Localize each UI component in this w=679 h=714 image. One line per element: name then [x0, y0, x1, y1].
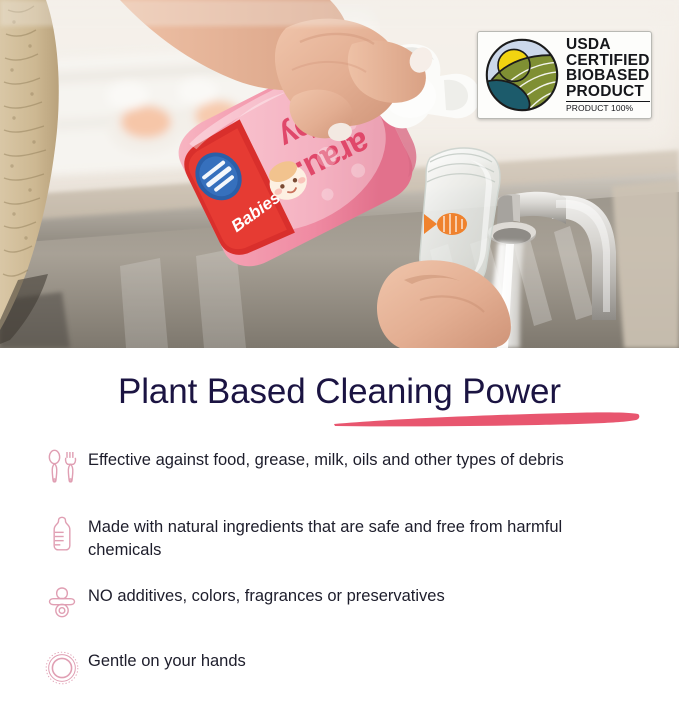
usda-line-3: BIOBASED: [566, 68, 650, 84]
page-title: Plant Based Cleaning Power: [0, 372, 679, 412]
heading-wrap: Plant Based Cleaning Power: [0, 372, 679, 412]
pacifier-icon: [36, 582, 88, 631]
feature-bullet-list: Effective against food, grease, milk, oi…: [36, 446, 646, 714]
lifestyle-photo: Babies arau. baby: [0, 0, 679, 348]
usda-badge-text: USDA CERTIFIED BIOBASED PRODUCT PRODUCT …: [566, 37, 650, 113]
list-item-label: Made with natural ingredients that are s…: [88, 513, 628, 562]
list-item: Gentle on your hands: [36, 647, 646, 696]
baby-bottle-icon: [36, 513, 88, 562]
usda-biobased-logo-icon: [482, 35, 562, 115]
list-item-label: Gentle on your hands: [88, 647, 246, 673]
product-feature-graphic: Babies arau. baby: [0, 0, 679, 679]
bubble-ring-icon: [36, 647, 88, 696]
list-item-label: Effective against food, grease, milk, oi…: [88, 446, 564, 472]
spoon-fork-icon: [36, 446, 88, 495]
list-item: Effective against food, grease, milk, oi…: [36, 446, 646, 495]
usda-line-1: USDA: [566, 37, 650, 53]
list-item: Made with natural ingredients that are s…: [36, 513, 646, 562]
list-item-label: NO additives, colors, fragrances or pres…: [88, 582, 445, 608]
features-panel: Plant Based Cleaning Power: [0, 348, 679, 679]
list-item: NO additives, colors, fragrances or pres…: [36, 582, 646, 631]
usda-line-4: PRODUCT: [566, 84, 650, 100]
usda-divider: [566, 101, 650, 102]
usda-product-percent: PRODUCT 100%: [566, 104, 650, 113]
heading-underline-brushstroke: [332, 408, 642, 430]
usda-biobased-badge: USDA CERTIFIED BIOBASED PRODUCT PRODUCT …: [477, 31, 652, 119]
usda-line-2: CERTIFIED: [566, 53, 650, 69]
